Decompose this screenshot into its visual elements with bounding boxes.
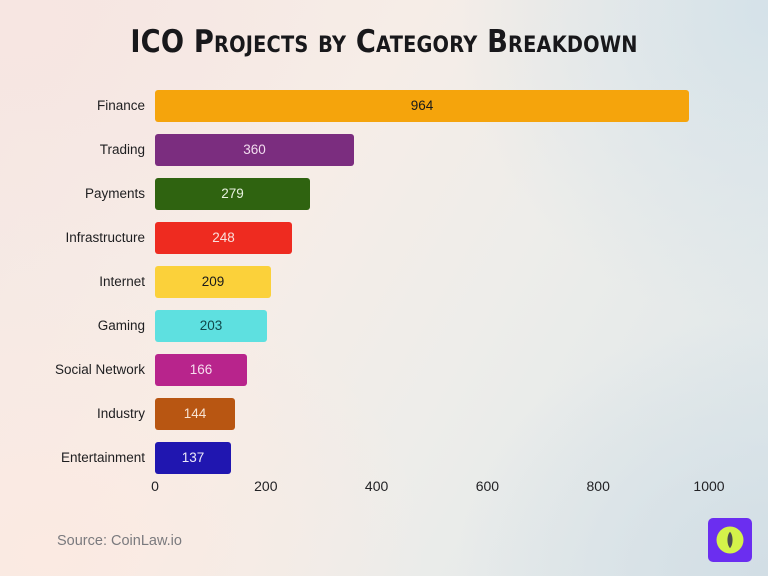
bar-category-label: Internet: [0, 266, 145, 298]
bar-category-label: Gaming: [0, 310, 145, 342]
bar-value-label: 166: [155, 354, 247, 386]
x-tick-label: 0: [151, 478, 159, 494]
bar-track: 964: [155, 90, 689, 122]
coinlaw-logo-mark: [708, 518, 752, 562]
bar-category-label: Entertainment: [0, 442, 145, 474]
bar-row: Entertainment137: [0, 442, 768, 474]
bar-row: Trading360: [0, 134, 768, 166]
bar-track: 360: [155, 134, 354, 166]
bar-category-label: Social Network: [0, 354, 145, 386]
bar-row: Internet209: [0, 266, 768, 298]
bar-value-label: 144: [155, 398, 235, 430]
x-tick-label: 400: [365, 478, 388, 494]
plot-area: Finance964Trading360Payments279Infrastru…: [0, 84, 768, 484]
bar-category-label: Trading: [0, 134, 145, 166]
bar-value-label: 964: [155, 90, 689, 122]
x-tick-label: 1000: [693, 478, 724, 494]
x-tick-label: 800: [587, 478, 610, 494]
bar-track: 166: [155, 354, 247, 386]
bar-row: Social Network166: [0, 354, 768, 386]
bar-track: 144: [155, 398, 235, 430]
bar-track: 209: [155, 266, 271, 298]
bar-category-label: Payments: [0, 178, 145, 210]
x-tick-label: 200: [254, 478, 277, 494]
bar-row: Payments279: [0, 178, 768, 210]
bar-track: 137: [155, 442, 231, 474]
bar-row: Gaming203: [0, 310, 768, 342]
bar-value-label: 248: [155, 222, 292, 254]
bar-category-label: Finance: [0, 90, 145, 122]
chart-title: ICO Projects by Category Breakdown: [46, 24, 722, 60]
bar-row: Industry144: [0, 398, 768, 430]
bar-value-label: 360: [155, 134, 354, 166]
bar-value-label: 203: [155, 310, 267, 342]
bar-value-label: 279: [155, 178, 310, 210]
coinlaw-logo: [708, 518, 752, 562]
bar-row: Infrastructure248: [0, 222, 768, 254]
x-axis: 02004006008001000: [0, 478, 768, 506]
bar-track: 248: [155, 222, 292, 254]
chart-canvas: ICO Projects by Category Breakdown Finan…: [0, 0, 768, 576]
bar-row: Finance964: [0, 90, 768, 122]
bar-category-label: Infrastructure: [0, 222, 145, 254]
bar-track: 203: [155, 310, 267, 342]
bar-value-label: 137: [155, 442, 231, 474]
x-tick-label: 600: [476, 478, 499, 494]
bar-track: 279: [155, 178, 310, 210]
bar-category-label: Industry: [0, 398, 145, 430]
bar-value-label: 209: [155, 266, 271, 298]
source-note: Source: CoinLaw.io: [57, 533, 182, 549]
